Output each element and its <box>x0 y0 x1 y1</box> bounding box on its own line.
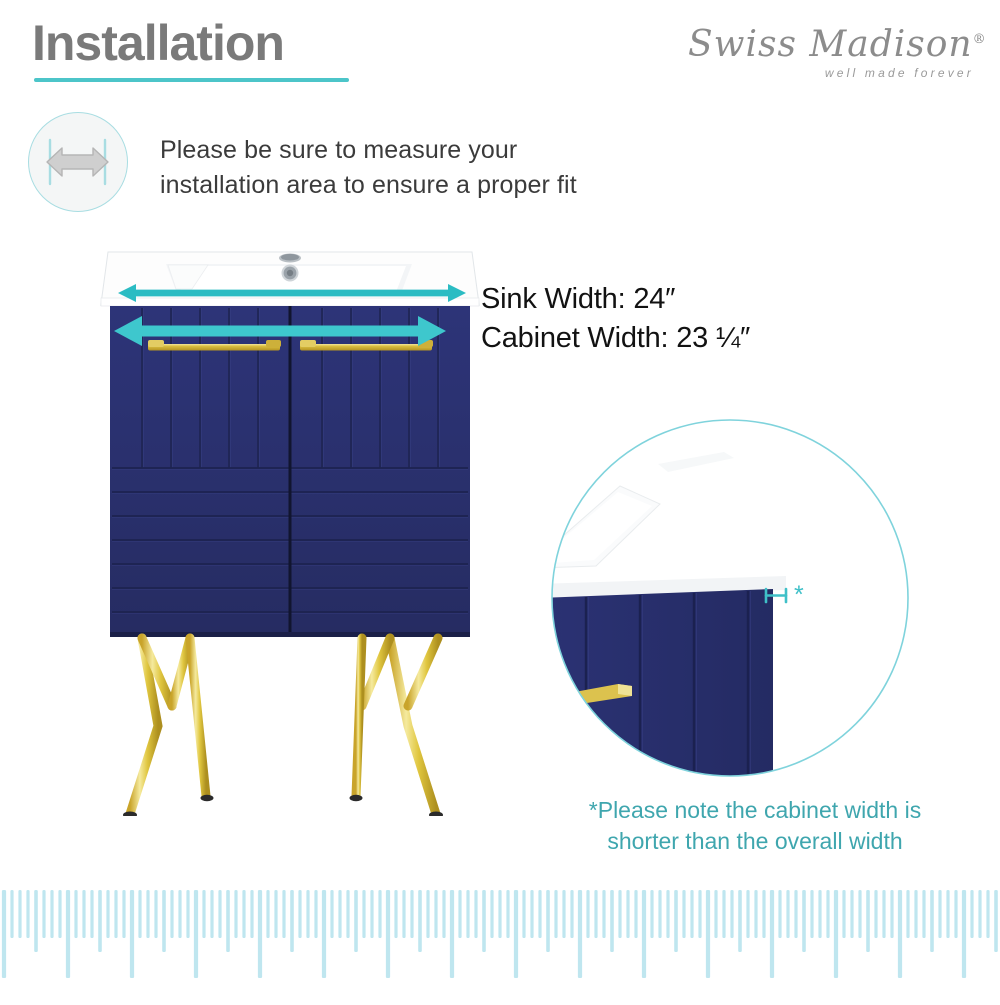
brand-logo-tagline: well made forever <box>825 66 974 80</box>
detail-asterisk-marker: * <box>794 581 804 609</box>
detail-contents <box>548 452 786 788</box>
brand-logo-name: Swiss Madison <box>688 24 973 65</box>
leg-feet <box>123 795 443 816</box>
cabinet-width-footnote: *Please note the cabinet width is shorte… <box>545 795 965 856</box>
measure-note-text: Please be sure to measure your installat… <box>160 133 577 202</box>
cabinet-body <box>110 306 470 637</box>
title-underline <box>34 78 349 82</box>
brand-logo: Swiss Madison® well made forever <box>688 24 978 86</box>
installation-guide-page: Installation Swiss Madison® well made fo… <box>0 0 1000 1000</box>
brand-logo-wordmark: Swiss Madison® <box>688 24 978 65</box>
measure-note-badge <box>28 112 128 212</box>
cabinet-side-detail-callout: * <box>548 408 948 788</box>
double-arrow-measure-icon <box>29 113 126 210</box>
dimension-labels: Sink Width: 24″ Cabinet Width: 23 ¼″ <box>481 280 750 358</box>
registered-trademark-icon: ® <box>973 32 987 47</box>
vanity-legs <box>130 638 438 814</box>
page-title: Installation <box>32 18 284 68</box>
vanity-front-illustration <box>100 236 480 816</box>
ruler-decoration <box>0 880 1000 1000</box>
